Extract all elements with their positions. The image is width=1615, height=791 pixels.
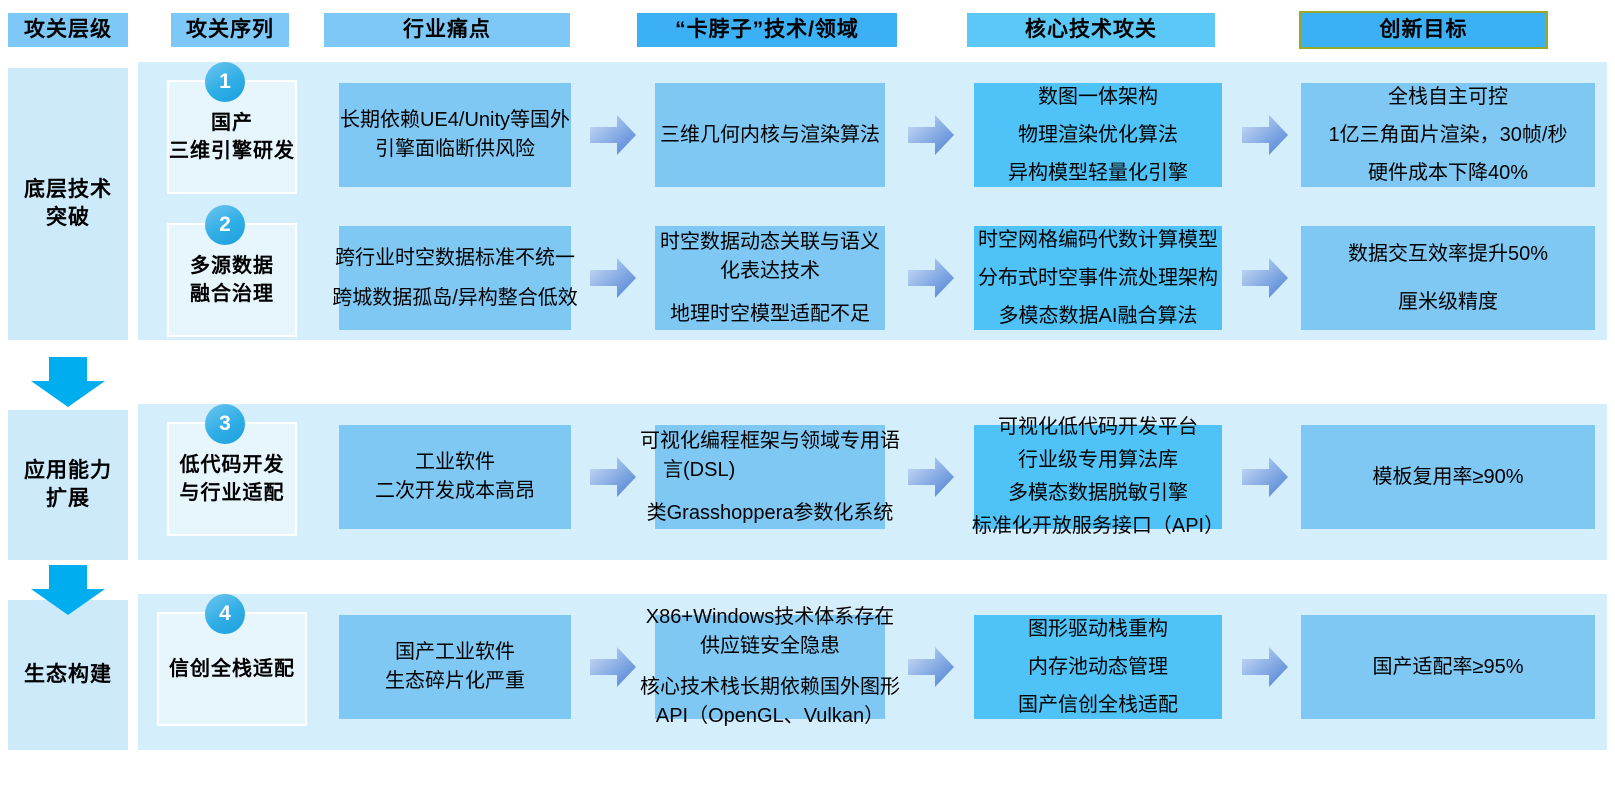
pain-box-3[interactable]: 工业软件 二次开发成本高昂 (339, 425, 571, 529)
header-pain: 行业痛点 (324, 13, 570, 47)
flowchart-canvas: 攻关层级 攻关序列 行业痛点 “卡脖子”技术/领域 核心技术攻关 创新目标 底层… (0, 0, 1615, 791)
header-tech: “卡脖子”技术/领域 (637, 13, 897, 47)
goal-box-2[interactable]: 数据交互效率提升50% 厘米级精度 (1301, 226, 1595, 330)
step-badge-1: 1 (205, 62, 245, 102)
header-core: 核心技术攻关 (967, 13, 1215, 47)
tech-box-2[interactable]: 时空数据动态关联与语义 化表达技术 地理时空模型适配不足 (655, 226, 885, 330)
level-label-application: 应用能力扩展 (24, 457, 112, 514)
right-arrow-icon (1242, 457, 1288, 497)
tech-box-4[interactable]: X86+Windows技术体系存在 供应链安全隐患 核心技术栈长期依赖国外图形 … (655, 615, 885, 719)
level-panel-ecosystem: 生态构建 (8, 600, 128, 750)
sequence-card-4-label: 信创全栈适配 (169, 655, 295, 683)
down-arrow-icon (31, 565, 105, 615)
right-arrow-icon (590, 115, 636, 155)
right-arrow-icon (1242, 258, 1288, 298)
level-panel-application: 应用能力扩展 (8, 410, 128, 560)
header-core-label: 核心技术攻关 (1025, 18, 1157, 41)
right-arrow-icon (908, 457, 954, 497)
step-badge-3: 3 (205, 404, 245, 444)
sequence-card-1-label: 国产三维引擎研发 (169, 109, 295, 165)
sequence-card-2-label: 多源数据融合治理 (190, 252, 274, 308)
step-badge-2: 2 (205, 205, 245, 245)
pain-box-1[interactable]: 长期依赖UE4/Unity等国外 引擎面临断供风险 (339, 83, 571, 187)
right-arrow-icon (908, 647, 954, 687)
level-label-foundation: 底层技术突破 (24, 176, 112, 233)
right-arrow-icon (590, 457, 636, 497)
header-goal-label: 创新目标 (1380, 18, 1468, 41)
pain-box-2[interactable]: 跨行业时空数据标准不统一 跨城数据孤岛/异构整合低效 (339, 226, 571, 330)
right-arrow-icon (908, 258, 954, 298)
header-tech-label: “卡脖子”技术/领域 (675, 18, 859, 41)
right-arrow-icon (1242, 115, 1288, 155)
tech-box-1[interactable]: 三维几何内核与渲染算法 (655, 83, 885, 187)
header-level-label: 攻关层级 (24, 18, 112, 41)
core-box-1[interactable]: 数图一体架构 物理渲染优化算法 异构模型轻量化引擎 (974, 83, 1222, 187)
pain-box-4[interactable]: 国产工业软件 生态碎片化严重 (339, 615, 571, 719)
tech-box-3[interactable]: 可视化编程框架与领域专用语 言(DSL) 类Grasshoppera参数化系统 (655, 425, 885, 529)
core-box-3[interactable]: 可视化低代码开发平台 行业级专用算法库 多模态数据脱敏引擎 标准化开放服务接口（… (974, 425, 1222, 529)
level-panel-foundation: 底层技术突破 (8, 68, 128, 340)
header-pain-label: 行业痛点 (403, 18, 491, 41)
header-goal[interactable]: 创新目标 (1301, 13, 1546, 47)
goal-box-4[interactable]: 国产适配率≥95% (1301, 615, 1595, 719)
header-sequence-label: 攻关序列 (186, 18, 274, 41)
right-arrow-icon (1242, 647, 1288, 687)
core-box-2[interactable]: 时空网格编码代数计算模型 分布式时空事件流处理架构 多模态数据AI融合算法 (974, 226, 1222, 330)
header-sequence: 攻关序列 (171, 13, 289, 47)
sequence-card-3-label: 低代码开发与行业适配 (180, 451, 285, 507)
right-arrow-icon (590, 647, 636, 687)
right-arrow-icon (590, 258, 636, 298)
level-label-ecosystem: 生态构建 (24, 661, 112, 689)
right-arrow-icon (908, 115, 954, 155)
header-level: 攻关层级 (8, 13, 128, 47)
core-box-4[interactable]: 图形驱动栈重构 内存池动态管理 国产信创全栈适配 (974, 615, 1222, 719)
down-arrow-icon (31, 357, 105, 407)
goal-box-1[interactable]: 全栈自主可控 1亿三角面片渲染，30帧/秒 硬件成本下降40% (1301, 83, 1595, 187)
step-badge-4: 4 (205, 594, 245, 634)
goal-box-3[interactable]: 模板复用率≥90% (1301, 425, 1595, 529)
